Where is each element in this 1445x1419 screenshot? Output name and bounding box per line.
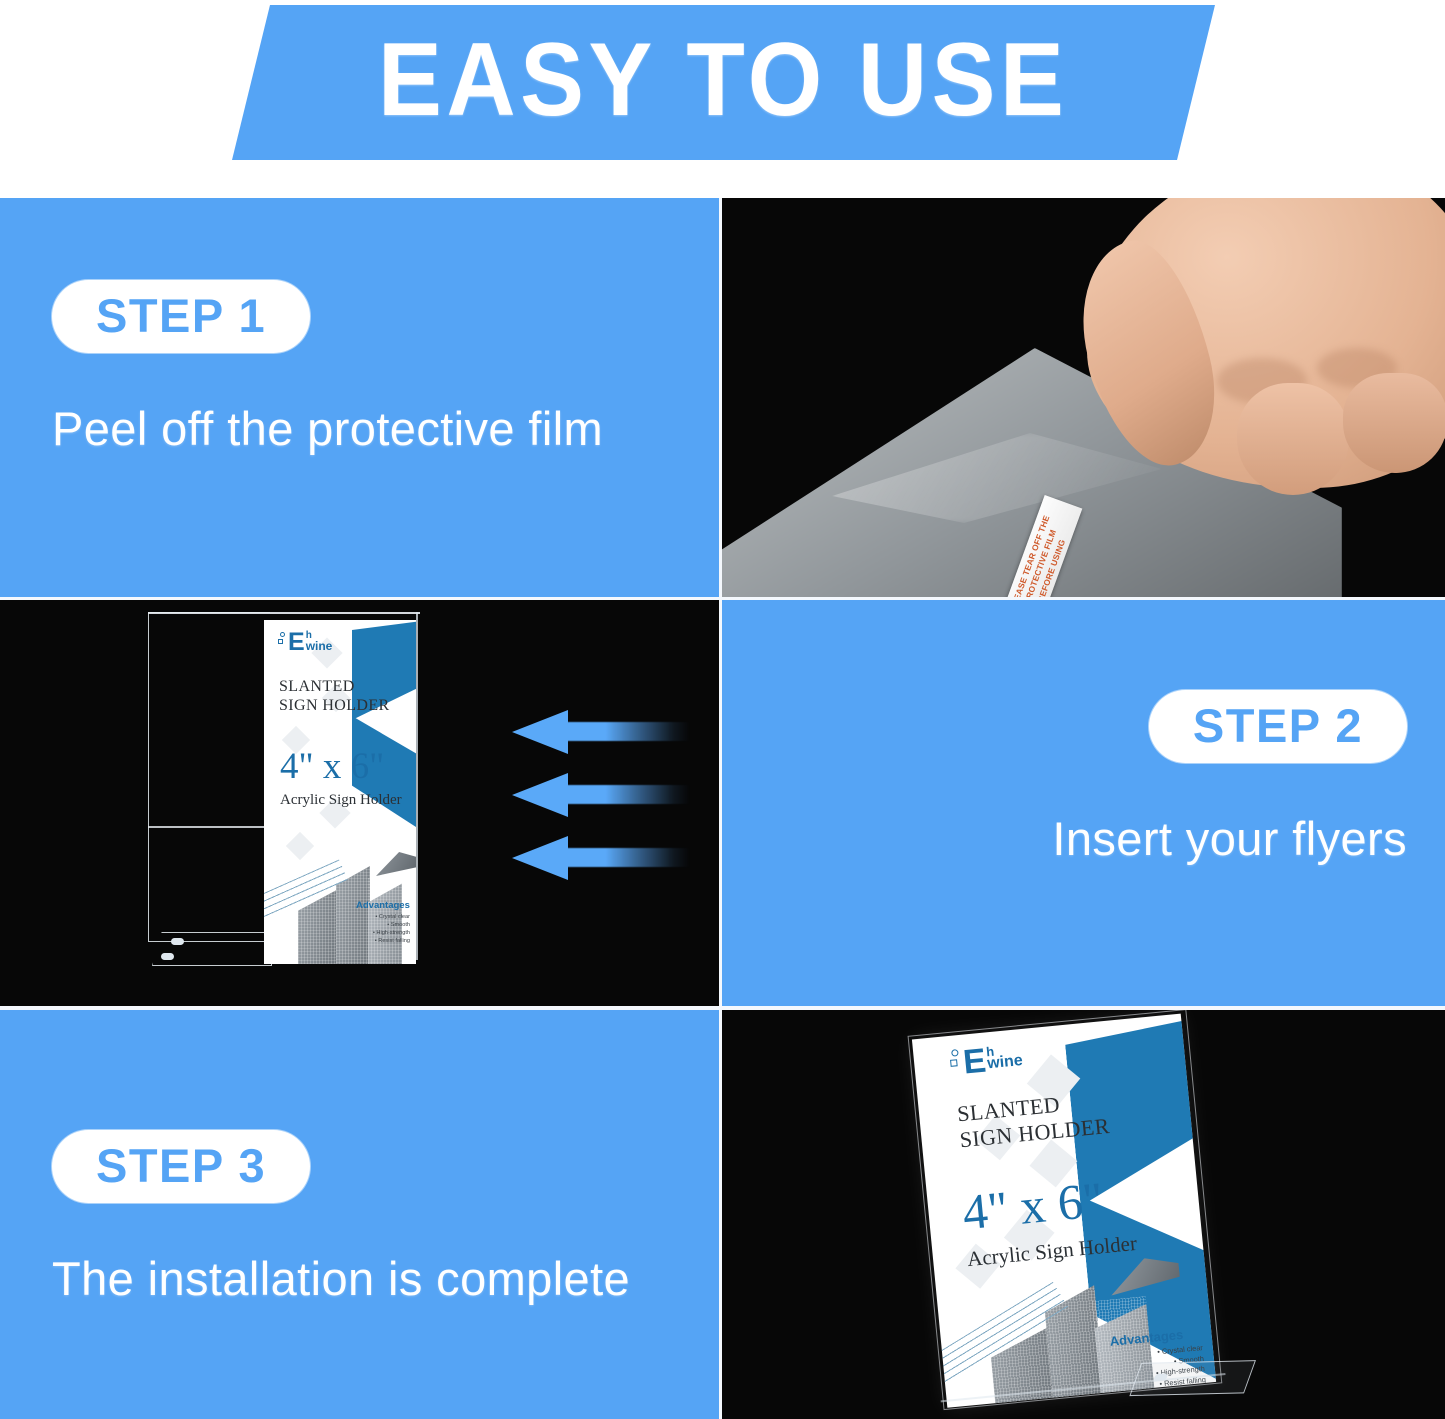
- flyer-advantage-item: • Resist falling: [342, 937, 410, 945]
- square-mark-icon: [278, 639, 283, 644]
- step-2-block: STEP 2 Insert your flyers: [1052, 690, 1407, 866]
- hand-finger: [1343, 373, 1445, 473]
- step-1-pill: STEP 1: [52, 280, 310, 353]
- step-3-block: STEP 3 The installation is complete: [52, 1130, 630, 1306]
- flyer-building-roof: [376, 852, 416, 876]
- step-2-label: STEP 2: [1193, 702, 1363, 749]
- flyer-logo-marks: [949, 1049, 963, 1072]
- arrow-head: [512, 836, 568, 880]
- flyer-logo-wine: wine: [306, 641, 333, 652]
- holder-front-edge: [416, 612, 418, 960]
- header-area: EASY TO USE: [0, 0, 1445, 198]
- flyer-logo-wine: wine: [987, 1054, 1024, 1071]
- holder-seam-line: [148, 826, 270, 828]
- step-3-label: STEP 3: [96, 1142, 266, 1189]
- holder-base-hole: [171, 938, 184, 945]
- panel-insert-flyer-photo: E h wine SLANTED SIGN HOLDER 4" x 6" Acr…: [0, 600, 719, 1006]
- arrow-tail: [554, 848, 690, 867]
- circle-mark-icon: [280, 632, 285, 637]
- arrow-head: [512, 773, 568, 817]
- flyer-advantages-list: • Crystal clear • Smooth • High-strength…: [342, 913, 410, 945]
- panel-step-1-text: STEP 1 Peel off the protective film: [0, 198, 719, 597]
- panel-step-2-text: STEP 2 Insert your flyers: [722, 600, 1445, 1006]
- acrylic-sign-holder-assembled: E h wine SLANTED SIGN HOLDER 4" x 6" Acr…: [904, 1010, 1261, 1419]
- holder-base-flange: [1129, 1360, 1256, 1396]
- flyer-card: E h wine SLANTED SIGN HOLDER 4" x 6" Acr…: [264, 620, 416, 964]
- step-1-block: STEP 1 Peel off the protective film: [52, 280, 603, 456]
- flyer-advantages-title: Advantages: [356, 900, 410, 911]
- steps-grid: STEP 1 Peel off the protective film PLEA…: [0, 198, 1445, 1419]
- flyer-logo-stack: h wine: [986, 1043, 1024, 1072]
- step-3-description: The installation is complete: [52, 1251, 630, 1306]
- step-1-description: Peel off the protective film: [52, 401, 603, 456]
- arrow-tail: [554, 785, 690, 804]
- insert-direction-arrows: [512, 710, 712, 890]
- panel-finished-product-photo: E h wine SLANTED SIGN HOLDER 4" x 6" Acr…: [722, 1010, 1445, 1419]
- flyer-advantage-item: • Crystal clear: [342, 913, 410, 921]
- flyer-subtitle: Acrylic Sign Holder: [280, 792, 402, 809]
- step-1-label: STEP 1: [96, 292, 266, 339]
- step-2-pill: STEP 2: [1149, 690, 1407, 763]
- flyer-logo: E h wine: [949, 1043, 1024, 1078]
- step-3-pill: STEP 3: [52, 1130, 310, 1203]
- arrow-left-icon: [512, 836, 690, 880]
- arrow-head: [512, 710, 568, 754]
- flyer-card: E h wine SLANTED SIGN HOLDER 4" x 6" Acr…: [912, 1014, 1216, 1408]
- header-banner: EASY TO USE: [232, 5, 1215, 160]
- step-2-description: Insert your flyers: [1052, 811, 1407, 866]
- flyer-logo: E h wine: [278, 632, 332, 653]
- circle-mark-icon: [951, 1049, 959, 1057]
- flyer-size: 4" x 6": [280, 748, 384, 785]
- acrylic-sign-holder: E h wine SLANTED SIGN HOLDER 4" x 6" Acr…: [148, 612, 418, 972]
- flyer-title-line-1: SLANTED: [279, 677, 355, 697]
- flyer-logo-letter: E: [288, 632, 305, 653]
- flyer-logo-letter: E: [962, 1047, 987, 1078]
- flyer-watermark-diamond: [286, 832, 314, 860]
- arrow-tail: [554, 722, 690, 741]
- flyer-advantage-item: • High-strength: [342, 929, 410, 937]
- flyer-size: 4" x 6": [960, 1174, 1105, 1237]
- holder-base-flange: [152, 932, 272, 966]
- page-title: EASY TO USE: [378, 28, 1068, 138]
- flyer-title-line-2: SIGN HOLDER: [279, 696, 390, 716]
- arrow-left-icon: [512, 710, 690, 754]
- flyer-logo-stack: h wine: [306, 632, 333, 651]
- panel-peel-film-photo: PLEASE TEAR OFF THE PROTECTIVE FILM BEFO…: [722, 198, 1445, 597]
- hand: [1067, 198, 1445, 558]
- panel-step-3-text: STEP 3 The installation is complete: [0, 1010, 719, 1419]
- holder-base-hole: [161, 953, 174, 960]
- flyer-logo-marks: [278, 632, 287, 648]
- holder-base-hole: [1153, 1374, 1168, 1382]
- flyer-advantage-item: • Smooth: [342, 921, 410, 929]
- arrow-left-icon: [512, 773, 690, 817]
- holder-back-panel: [148, 612, 270, 942]
- hand-finger: [1237, 383, 1349, 495]
- square-mark-icon: [950, 1059, 958, 1067]
